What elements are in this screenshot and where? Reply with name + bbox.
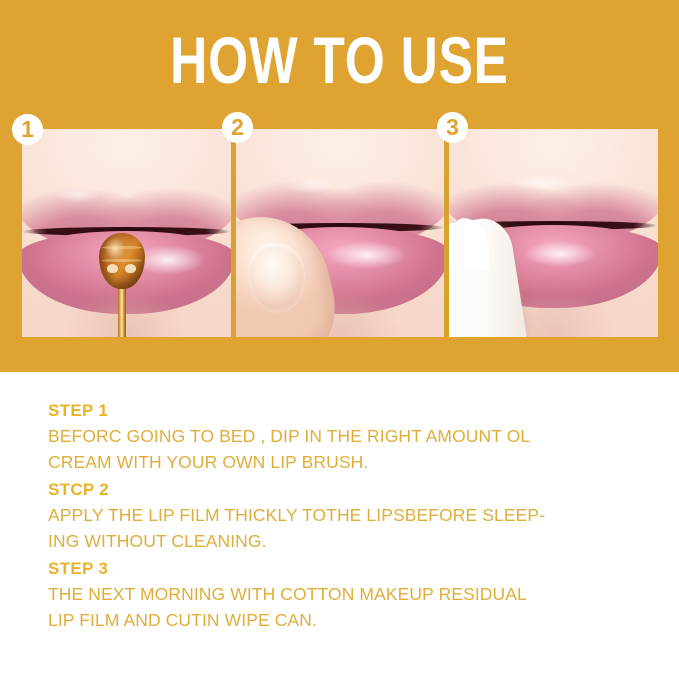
step-2-label: STCP 2 [48, 477, 648, 502]
step-2-body: APPLY THE LIP FILM THICKLY TOTHE LIPSBEF… [48, 502, 648, 554]
how-to-use-infographic: HOW TO USE [0, 0, 679, 679]
wand-ridge [102, 259, 142, 262]
step-photo-1 [22, 129, 231, 337]
step-badge-1: 1 [12, 114, 43, 145]
upper-lip-sheen [512, 175, 570, 191]
step-3-label: STEP 3 [48, 556, 648, 581]
wand-notch [107, 264, 118, 273]
step-badge-2: 2 [222, 112, 253, 143]
lips-photo-3 [449, 129, 658, 337]
cotton-pad-tip [449, 216, 490, 270]
lips-photo-2 [236, 129, 445, 337]
step-1-body: BEFORC GOING TO BED , DIP IN THE RIGHT A… [48, 423, 648, 475]
step-photo-2 [236, 129, 445, 337]
page-title: HOW TO USE [75, 27, 605, 93]
step-photo-3 [449, 129, 658, 337]
wand-ridge [102, 246, 142, 249]
upper-lip-sheen [286, 179, 340, 193]
step-photo-strip [22, 129, 658, 337]
lips-photo-1 [22, 129, 231, 337]
instructions-block: STEP 1 BEFORC GOING TO BED , DIP IN THE … [48, 398, 648, 635]
wand-notch [125, 264, 136, 273]
step-1-label: STEP 1 [48, 398, 648, 423]
fingernail [245, 241, 309, 315]
step-3-body: THE NEXT MORNING WITH COTTON MAKEUP RESI… [48, 581, 648, 633]
step-badge-3: 3 [437, 112, 468, 143]
